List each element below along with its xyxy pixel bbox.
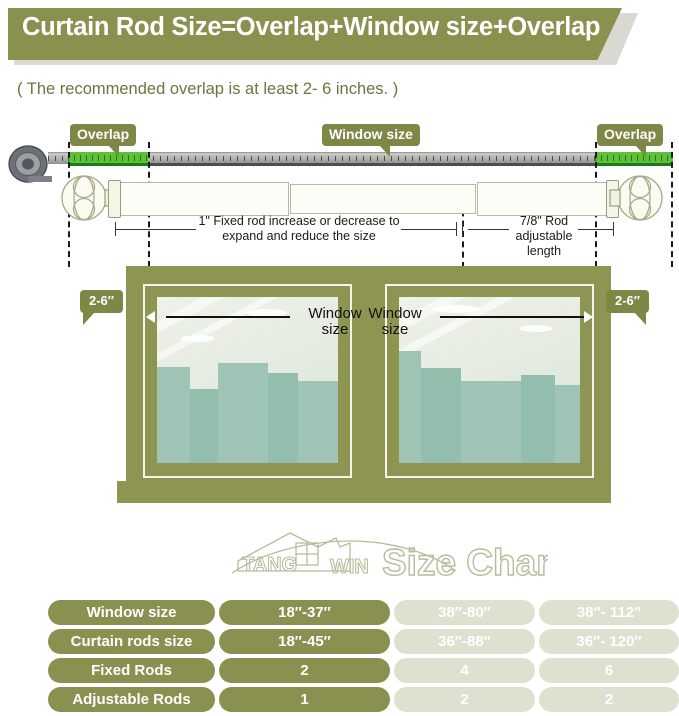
logo-title: Size Chart [382,542,548,583]
callout-window-size-label: Window size [329,126,413,142]
infographic-canvas: Curtain Rod Size=Overlap+Window size+Ove… [0,0,679,716]
dim-cap-fixed-right [456,222,457,236]
callout-tail [108,145,119,157]
table-cell-col3: 38″- 112″ [539,600,679,625]
table-cell-col2: 4 [394,658,535,683]
dim-line-adj-right [578,229,614,230]
dim-adjustable-line1: 7/8" Rod [520,214,568,228]
table-row-label: Adjustable Rods [48,687,215,712]
table-row-label: Curtain rods size [48,629,215,654]
table-cell-col2: 38″-80″ [394,600,535,625]
callout-tail [635,145,646,157]
window-size-arrow-left-icon [146,311,155,323]
window-sill [117,481,611,503]
dim-cap-adj-right [613,222,614,236]
overlap-badge-left-label: 2-6″ [89,293,114,308]
dim-cap-split [462,222,463,236]
tape-measure-icon [8,145,54,183]
window-size-line-right [440,316,585,318]
page-title: Curtain Rod Size=Overlap+Window size+Ove… [22,13,602,42]
table-cell-col3: 36″- 120″ [539,629,679,654]
rod-segment-middle [290,184,476,214]
rod-collar-left [108,180,121,218]
badge-tail [83,312,95,325]
tape-green-edge-right [595,163,673,166]
tape-center-edge [148,163,595,166]
brand-logo: TANG WIN Size Chart [218,525,548,591]
table-row-label: Fixed Rods [48,658,215,683]
table-cell-col3: 2 [539,687,679,712]
rod-segment-adjustable-right [477,182,611,216]
page-subtitle: ( The recommended overlap is at least 2-… [17,80,398,99]
table-row-label: Window size [48,600,215,625]
callout-tail [379,145,390,157]
callout-overlap-right: Overlap [597,124,663,146]
logo-brand-right: WIN [330,556,369,578]
table-cell-col2: 2 [394,687,535,712]
overlap-badge-left: 2-6″ [80,290,123,313]
window-size-label-right-line1: Window [368,305,421,322]
table-cell-col1: 1 [219,687,390,712]
callout-overlap-right-label: Overlap [604,126,656,142]
callout-overlap-left: Overlap [70,124,136,146]
callout-overlap-left-label: Overlap [77,126,129,142]
dim-adjustable-line2: adjustable length [516,229,573,258]
dim-line-adj-left [468,229,509,230]
window-size-line-left [166,316,290,318]
finial-right-icon [608,168,666,233]
dim-line-fixed-left [115,229,196,230]
table-cell-col1: 18″-45″ [219,629,390,654]
tape-green-edge-left [68,163,148,166]
badge-tail [634,312,646,325]
window-size-label-right-line2: size [382,321,409,338]
overlap-badge-right: 2-6″ [606,290,649,313]
window-size-arrow-right-icon [584,311,593,323]
table-cell-col2: 36″-88″ [394,629,535,654]
rod-segment-fixed-left [117,182,289,216]
window-size-label-left-line2: size [322,321,349,338]
dim-line-fixed-right [401,229,457,230]
dim-fixed-rod-line2: expand and reduce the size [222,229,376,243]
logo-brand-left: TANG [242,554,297,576]
callout-window-size-top: Window size [322,124,420,146]
table-cell-col1: 2 [219,658,390,683]
table-cell-col3: 6 [539,658,679,683]
table-cell-col1: 18″-37″ [219,600,390,625]
overlap-badge-right-label: 2-6″ [615,293,640,308]
guide-right-outer [671,142,673,267]
dim-fixed-rod-line1: 1" Fixed rod increase or decrease to [198,214,399,228]
